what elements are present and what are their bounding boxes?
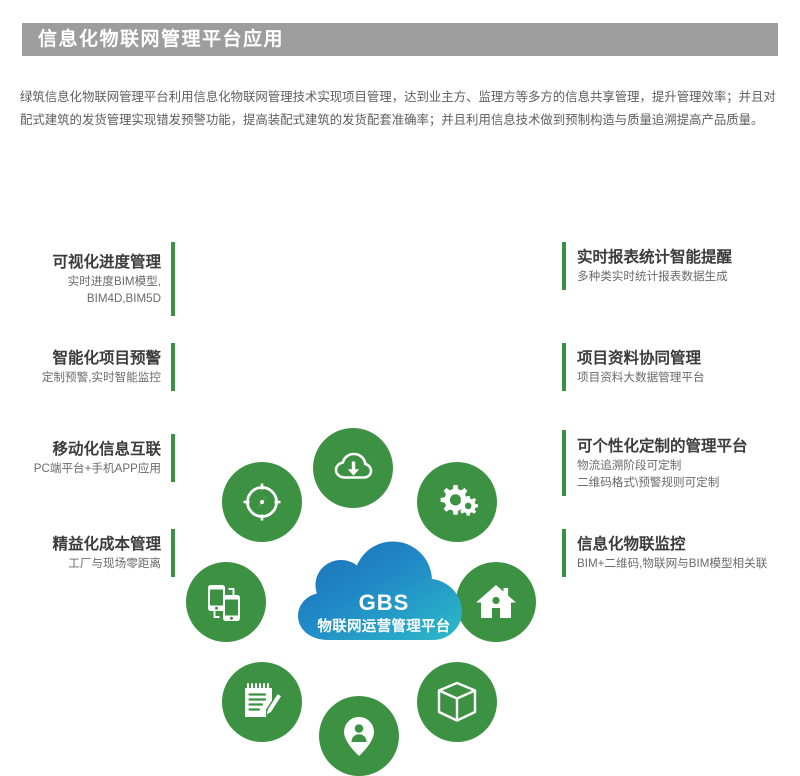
label-subtitle: 定制预警,实时智能监控 bbox=[42, 369, 161, 386]
mobile-devices-icon bbox=[186, 562, 266, 642]
label-text-group: 可个性化定制的管理平台 物流追溯阶段可定制 二维码格式\预警规则可定制 bbox=[577, 430, 748, 496]
label-text-group: 可视化进度管理 实时进度BIM模型, BIM4D,BIM5D bbox=[52, 242, 161, 316]
label-text-group: 智能化项目预警 定制预警,实时智能监控 bbox=[42, 343, 161, 391]
cloud-download-icon bbox=[313, 428, 393, 508]
feature-label-iot-monitoring: 信息化物联监控 BIM+二维码,物联网与BIM模型相关联 bbox=[562, 529, 767, 577]
feature-label-customizable-platform: 可个性化定制的管理平台 物流追溯阶段可定制 二维码格式\预警规则可定制 bbox=[562, 430, 748, 496]
label-text-group: 精益化成本管理 工厂与现场零距离 bbox=[52, 529, 161, 577]
feature-label-doc-collaboration: 项目资料协同管理 项目资料大数据管理平台 bbox=[562, 343, 705, 391]
intro-paragraph: 绿筑信息化物联网管理平台利用信息化物联网管理技术实现项目管理，达到业主方、监理方… bbox=[20, 86, 782, 132]
label-subtitle: BIM+二维码,物联网与BIM模型相关联 bbox=[577, 555, 767, 572]
accent-bar bbox=[171, 242, 175, 316]
label-title: 移动化信息互联 bbox=[34, 439, 161, 460]
label-subtitle: 物流追溯阶段可定制 bbox=[577, 457, 748, 474]
label-title: 精益化成本管理 bbox=[52, 534, 161, 555]
location-person-icon bbox=[319, 696, 399, 776]
page-title: 信息化物联网管理平台应用 bbox=[22, 30, 284, 49]
cloud-shape-icon bbox=[288, 540, 480, 650]
accent-bar bbox=[171, 529, 175, 577]
accent-bar bbox=[171, 343, 175, 391]
label-text-group: 信息化物联监控 BIM+二维码,物联网与BIM模型相关联 bbox=[577, 529, 767, 577]
label-title: 可视化进度管理 bbox=[52, 252, 161, 273]
accent-bar bbox=[171, 434, 175, 482]
label-subtitle: 多种类实时统计报表数据生成 bbox=[577, 268, 732, 285]
label-text-group: 移动化信息互联 PC端平台+手机APP应用 bbox=[34, 434, 161, 482]
compass-icon bbox=[222, 462, 302, 542]
feature-label-lean-cost: 精益化成本管理 工厂与现场零距离 bbox=[52, 529, 175, 577]
page-header-bar: 信息化物联网管理平台应用 bbox=[22, 23, 778, 56]
label-subtitle: 二维码格式\预警规则可定制 bbox=[577, 474, 748, 491]
label-title: 项目资料协同管理 bbox=[577, 348, 705, 369]
label-subtitle: 工厂与现场零距离 bbox=[52, 555, 161, 572]
label-text-group: 实时报表统计智能提醒 多种类实时统计报表数据生成 bbox=[577, 242, 732, 290]
label-title: 智能化项目预警 bbox=[42, 348, 161, 369]
label-subtitle: 项目资料大数据管理平台 bbox=[577, 369, 705, 386]
feature-label-mobile-interconnect: 移动化信息互联 PC端平台+手机APP应用 bbox=[34, 434, 175, 482]
intro-line-2: 配式建筑的发货管理实现错发预警功能，提高装配式建筑的发货配套准确率；并且利用信息… bbox=[20, 109, 782, 132]
accent-bar bbox=[562, 430, 566, 496]
label-subtitle: 实时进度BIM模型, bbox=[52, 273, 161, 290]
radial-diagram: 可视化进度管理 实时进度BIM模型, BIM4D,BIM5D 智能化项目预警 定… bbox=[0, 200, 800, 613]
accent-bar bbox=[562, 242, 566, 290]
intro-line-1: 绿筑信息化物联网管理平台利用信息化物联网管理技术实现项目管理，达到业主方、监理方… bbox=[20, 86, 782, 109]
label-subtitle: PC端平台+手机APP应用 bbox=[34, 460, 161, 477]
label-title: 可个性化定制的管理平台 bbox=[577, 436, 748, 457]
accent-bar bbox=[562, 343, 566, 391]
label-text-group: 项目资料协同管理 项目资料大数据管理平台 bbox=[577, 343, 705, 391]
box-3d-icon bbox=[417, 662, 497, 742]
label-title: 实时报表统计智能提醒 bbox=[577, 247, 732, 268]
feature-label-realtime-report: 实时报表统计智能提醒 多种类实时统计报表数据生成 bbox=[562, 242, 732, 290]
label-subtitle: BIM4D,BIM5D bbox=[52, 290, 161, 307]
feature-label-visual-progress: 可视化进度管理 实时进度BIM模型, BIM4D,BIM5D bbox=[52, 242, 175, 316]
center-cloud: GBS 物联网运营管理平台 bbox=[288, 540, 480, 650]
gears-icon bbox=[417, 462, 497, 542]
feature-label-smart-warning: 智能化项目预警 定制预警,实时智能监控 bbox=[42, 343, 175, 391]
accent-bar bbox=[562, 529, 566, 577]
notepad-pencil-icon bbox=[222, 662, 302, 742]
label-title: 信息化物联监控 bbox=[577, 534, 767, 555]
